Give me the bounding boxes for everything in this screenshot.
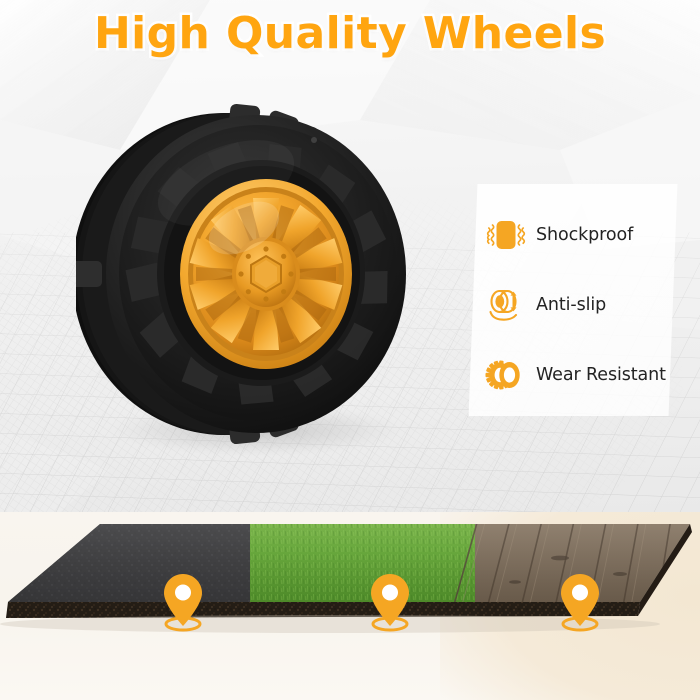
map-pin-icon-cement-road: [160, 572, 206, 634]
feature-item-shockproof: Shockproof: [485, 200, 700, 270]
feature-label: Wear Resistant: [536, 365, 666, 385]
feature-item-anti-slip: Anti-slip: [485, 270, 700, 340]
feature-label: Shockproof: [536, 225, 633, 245]
feature-label: Anti-slip: [536, 295, 606, 315]
product-poster: High Quality Wheels: [0, 0, 700, 700]
feature-item-wear-resistant: Wear Resistant: [485, 340, 700, 410]
anti-slip-icon: [485, 283, 527, 327]
shockproof-icon: [485, 213, 527, 257]
valve-stem: [311, 137, 317, 143]
wheel-hub: [180, 179, 352, 369]
wheel-product-image: [76, 78, 436, 458]
features-list: Shockproof: [485, 200, 700, 410]
page-title: High Quality Wheels: [0, 9, 700, 60]
map-pin-icon-wood-floor: [557, 572, 603, 634]
map-pin-icon-grassland: [367, 572, 413, 634]
surface-pins: [0, 512, 700, 700]
wear-resistant-icon: [485, 353, 527, 397]
surfaces-section: Cement Road Grassland Wood Floor: [0, 512, 700, 700]
